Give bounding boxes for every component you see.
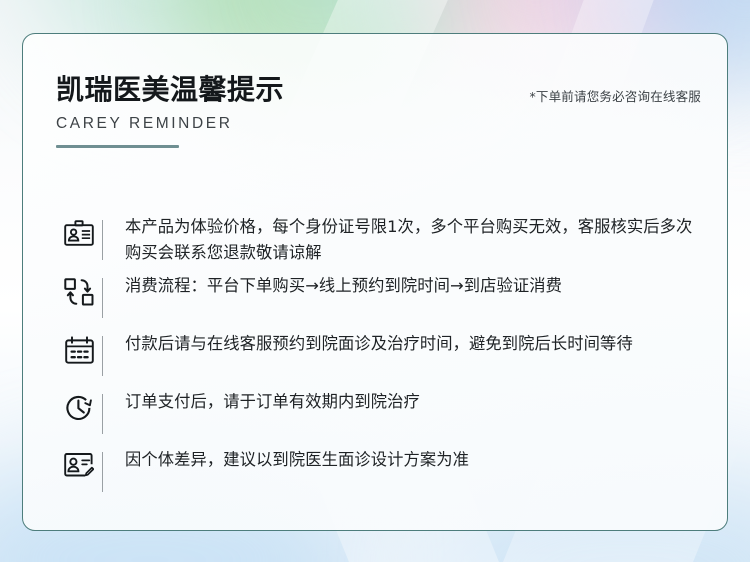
list-item: 本产品为体验价格，每个身份证号限1次，多个平台购买无效，客服核实后多次购买会联系… [56, 212, 703, 270]
list-item: 订单支付后，请于订单有效期内到院治疗 [56, 386, 703, 444]
list-item: 付款后请与在线客服预约到院面诊及治疗时间，避免到院后长时间等待 [56, 328, 703, 386]
list-item-text: 订单支付后，请于订单有效期内到院治疗 [103, 386, 703, 415]
title-underline-rule [56, 145, 179, 148]
card-header: 凯瑞医美温馨提示 CAREY REMINDER *下单前请您务必咨询在线客服 [56, 74, 701, 148]
reminder-card: 凯瑞医美温馨提示 CAREY REMINDER *下单前请您务必咨询在线客服 本… [22, 33, 728, 531]
list-item-text: 本产品为体验价格，每个身份证号限1次，多个平台购买无效，客服核实后多次购买会联系… [103, 212, 703, 267]
reminder-list: 本产品为体验价格，每个身份证号限1次，多个平台购买无效，客服核实后多次购买会联系… [56, 212, 703, 502]
calendar-icon [56, 328, 102, 364]
list-item-text: 因个体差异，建议以到院医生面诊设计方案为准 [103, 444, 703, 473]
id-card-icon [56, 212, 102, 246]
page-subtitle: CAREY REMINDER [56, 115, 701, 133]
profile-edit-icon [56, 444, 102, 478]
list-item: 因个体差异，建议以到院医生面诊设计方案为准 [56, 444, 703, 502]
process-flow-icon [56, 270, 102, 306]
consult-note: *下单前请您务必咨询在线客服 [529, 86, 701, 105]
list-item: 消费流程：平台下单购买→线上预约到院时间→到店验证消费 [56, 270, 703, 328]
clock-arrow-icon [56, 386, 102, 422]
list-item-text: 消费流程：平台下单购买→线上预约到院时间→到店验证消费 [103, 270, 703, 299]
list-item-text: 付款后请与在线客服预约到院面诊及治疗时间，避免到院后长时间等待 [103, 328, 703, 357]
